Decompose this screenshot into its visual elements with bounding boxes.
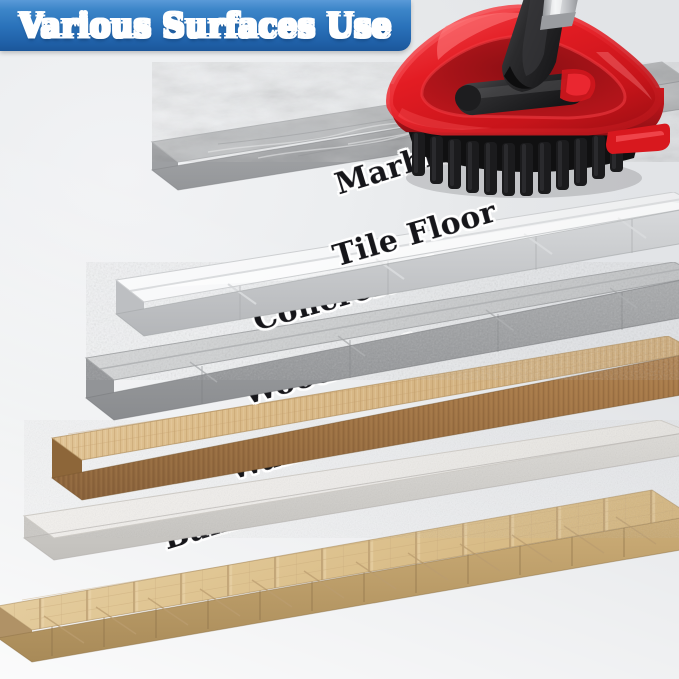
product-image-canvas: Bamboo Floor <box>0 0 679 679</box>
header-banner: Various Surfaces Use <box>0 0 411 51</box>
scrub-brush-svg <box>372 0 679 212</box>
banner-title: Various Surfaces Use <box>19 6 392 44</box>
product-scrub-brush <box>372 0 679 217</box>
